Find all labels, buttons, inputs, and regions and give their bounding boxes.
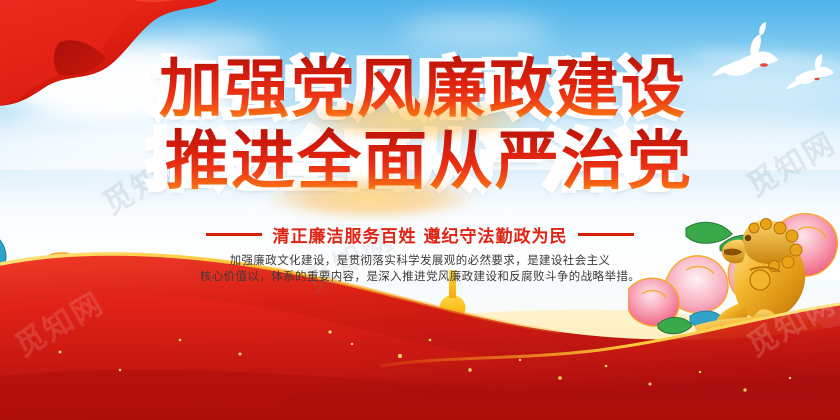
body-line-1: 加强廉政文化建设，是贯彻落实科学发展观的必然要求，是建设社会主义 xyxy=(0,252,840,268)
poster-canvas: 觅知网 觅知网 觅知网 觅知网 觅知网 加强党风廉政建设 加强党风廉政建设 推进… xyxy=(0,0,840,420)
doves-icon xyxy=(700,18,840,102)
red-waves-decor xyxy=(0,220,840,420)
subtitle-dash-right xyxy=(578,233,634,236)
cloud xyxy=(400,18,550,46)
subtitle-row: 清正廉洁服务百姓 遵纪守法勤政为民 xyxy=(0,222,840,247)
body-paragraph: 加强廉政文化建设，是贯彻落实科学发展观的必然要求，是建设社会主义 核心价值以，体… xyxy=(0,252,840,284)
subtitle-text: 清正廉洁服务百姓 遵纪守法勤政为民 xyxy=(273,222,568,247)
subtitle-dash-left xyxy=(206,233,262,236)
red-flag-icon xyxy=(0,0,224,106)
body-line-2: 核心价值以，体系的重要内容，是深入推进党风廉政建设和反腐败斗争的战略举措。 xyxy=(0,268,840,284)
